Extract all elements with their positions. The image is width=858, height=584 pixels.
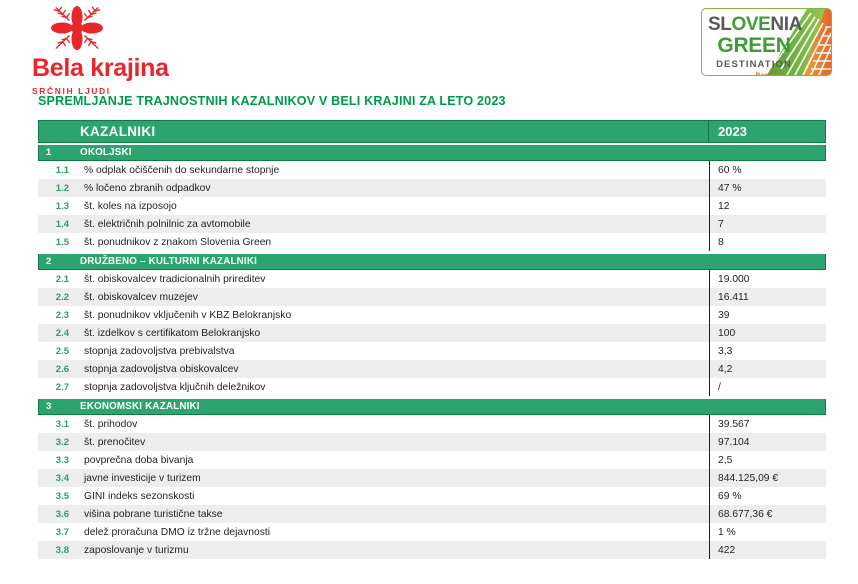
row-value: 12 <box>709 197 826 215</box>
brand-logo-bela-krajina: Bela krajina SRČNIH LJUDI <box>32 4 252 96</box>
row-value: 60 % <box>709 161 826 179</box>
row-value: 39.567 <box>709 415 826 433</box>
table-row: 2.7stopnja zadovoljstva ključnih deležni… <box>38 378 826 396</box>
row-label: % ločeno zbranih odpadkov <box>74 179 709 197</box>
row-label: višina pobrane turistične takse <box>74 505 709 523</box>
row-value: 47 % <box>709 179 826 197</box>
table-row: 1.2% ločeno zbranih odpadkov47 % <box>38 179 826 197</box>
row-number: 3.8 <box>38 541 74 559</box>
row-number: 2.3 <box>38 306 74 324</box>
row-value: 100 <box>709 324 826 342</box>
page-header: Bela krajina SRČNIH LJUDI <box>0 0 858 92</box>
brand-name: Bela krajina <box>32 56 252 81</box>
section-label: DRUŽBENO – KULTURNI KAZALNIKI <box>75 254 708 269</box>
table-row: 3.2št. prenočitev97.104 <box>38 433 826 451</box>
table-row: 1.3št. koles na izposojo12 <box>38 197 826 215</box>
row-label: št. električnih polnilnic za avtomobile <box>74 215 709 233</box>
row-label: št. ponudnikov vključenih v KBZ Belokran… <box>74 306 709 324</box>
row-number: 2.2 <box>38 288 74 306</box>
table-row: 3.1št. prihodov39.567 <box>38 415 826 433</box>
row-number: 3.3 <box>38 451 74 469</box>
slovenia-green-destination-logo: SLOVENIA GREEN DESTINATION Bronze <box>701 8 832 76</box>
row-label: št. obiskovalcev tradicionalnih priredit… <box>74 270 709 288</box>
row-number: 2.6 <box>38 360 74 378</box>
section-number: 3 <box>39 399 75 414</box>
table-row: 2.3št. ponudnikov vključenih v KBZ Belok… <box>38 306 826 324</box>
sg-ove: OVE <box>731 14 770 35</box>
sg-nia: NIA <box>770 14 802 35</box>
table-row: 2.6stopnja zadovoljstva obiskovalcev4,2 <box>38 360 826 378</box>
row-label: št. izdelkov s certifikatom Belokranjsko <box>74 324 709 342</box>
row-value: 69 % <box>709 487 826 505</box>
row-label: št. prenočitev <box>74 433 709 451</box>
sg-line-green: GREEN <box>708 35 800 57</box>
section-header-row: 3EKONOMSKI KAZALNIKI <box>38 399 826 415</box>
table-row: 3.4javne investicije v turizem844.125,09… <box>38 469 826 487</box>
slovenia-green-wordmark: SLOVENIA GREEN DESTINATION Bronze <box>708 15 800 76</box>
sg-level-badge: Bronze <box>736 72 800 76</box>
row-number: 1.2 <box>38 179 74 197</box>
table-row: 3.5GINI indeks sezonskosti69 % <box>38 487 826 505</box>
row-value: 68.677,36 € <box>709 505 826 523</box>
row-label: GINI indeks sezonskosti <box>74 487 709 505</box>
row-label: delež proračuna DMO iz tržne dejavnosti <box>74 523 709 541</box>
table-row: 1.1% odplak očiščenih do sekundarne stop… <box>38 161 826 179</box>
table-row: 2.5stopnja zadovoljstva prebivalstva3,3 <box>38 342 826 360</box>
row-value: / <box>709 378 826 396</box>
table-row: 2.4št. izdelkov s certifikatom Belokranj… <box>38 324 826 342</box>
row-number: 1.5 <box>38 233 74 251</box>
table-row: 3.6višina pobrane turistične takse68.677… <box>38 505 826 523</box>
header-value-cell: 2023 <box>708 121 825 142</box>
table-row: 2.2št. obiskovalcev muzejev16.411 <box>38 288 826 306</box>
row-value: 422 <box>709 541 826 559</box>
row-number: 3.5 <box>38 487 74 505</box>
header-label-cell: KAZALNIKI <box>75 121 708 142</box>
indicators-table: KAZALNIKI 2023 1OKOLJSKI1.1% odplak očiš… <box>38 120 826 559</box>
row-value: 7 <box>709 215 826 233</box>
row-label: stopnja zadovoljstva prebivalstva <box>74 342 709 360</box>
row-number: 3.6 <box>38 505 74 523</box>
row-label: zaposlovanje v turizmu <box>74 541 709 559</box>
row-label: povprečna doba bivanja <box>74 451 709 469</box>
row-number: 2.4 <box>38 324 74 342</box>
table-row: 1.5št. ponudnikov z znakom Slovenia Gree… <box>38 233 826 251</box>
section-label: EKONOMSKI KAZALNIKI <box>75 399 708 414</box>
row-value: 8 <box>709 233 826 251</box>
table-header-row: KAZALNIKI 2023 <box>38 120 826 143</box>
row-label: % odplak očiščenih do sekundarne stopnje <box>74 161 709 179</box>
row-value: 16.411 <box>709 288 826 306</box>
table-row: 3.8zaposlovanje v turizmu422 <box>38 541 826 559</box>
sg-line-destination: DESTINATION <box>708 59 800 70</box>
sg-line-slovenia: SLOVENIA <box>708 15 800 35</box>
floral-motif-icon <box>44 4 110 52</box>
section-number: 1 <box>39 145 75 160</box>
section-value-cell <box>708 145 825 160</box>
row-number: 2.1 <box>38 270 74 288</box>
row-label: št. koles na izposojo <box>74 197 709 215</box>
row-value: 1 % <box>709 523 826 541</box>
section-header-row: 1OKOLJSKI <box>38 145 826 161</box>
section-value-cell <box>708 399 825 414</box>
row-label: št. prihodov <box>74 415 709 433</box>
section-label: OKOLJSKI <box>75 145 708 160</box>
section-header-row: 2DRUŽBENO – KULTURNI KAZALNIKI <box>38 254 826 270</box>
row-value: 97.104 <box>709 433 826 451</box>
row-number: 2.5 <box>38 342 74 360</box>
row-spacer <box>38 143 826 144</box>
table-row: 2.1št. obiskovalcev tradicionalnih prire… <box>38 270 826 288</box>
row-number: 2.7 <box>38 378 74 396</box>
row-spacer <box>38 396 826 398</box>
row-value: 4,2 <box>709 360 826 378</box>
row-number: 3.2 <box>38 433 74 451</box>
row-number: 3.7 <box>38 523 74 541</box>
sg-sl: SL <box>708 14 731 35</box>
row-label: stopnja zadovoljstva obiskovalcev <box>74 360 709 378</box>
section-number: 2 <box>39 254 75 269</box>
row-number: 1.1 <box>38 161 74 179</box>
section-value-cell <box>708 254 825 269</box>
row-number: 3.4 <box>38 469 74 487</box>
row-number: 1.4 <box>38 215 74 233</box>
row-spacer <box>38 251 826 253</box>
row-number: 1.3 <box>38 197 74 215</box>
row-number: 3.1 <box>38 415 74 433</box>
page-root: Bela krajina SRČNIH LJUDI <box>0 0 858 584</box>
row-value: 39 <box>709 306 826 324</box>
row-value: 2,5 <box>709 451 826 469</box>
table-body: 1OKOLJSKI1.1% odplak očiščenih do sekund… <box>38 143 826 559</box>
header-num-cell <box>39 121 75 142</box>
table-row: 3.3povprečna doba bivanja2,5 <box>38 451 826 469</box>
table-row: 1.4št. električnih polnilnic za avtomobi… <box>38 215 826 233</box>
row-value: 3,3 <box>709 342 826 360</box>
row-label: št. obiskovalcev muzejev <box>74 288 709 306</box>
row-label: javne investicije v turizem <box>74 469 709 487</box>
table-row: 3.7delež proračuna DMO iz tržne dejavnos… <box>38 523 826 541</box>
row-value: 844.125,09 € <box>709 469 826 487</box>
row-label: stopnja zadovoljstva ključnih deležnikov <box>74 378 709 396</box>
page-title: SPREMLJANJE TRAJNOSTNIH KAZALNIKOV V BEL… <box>38 94 506 108</box>
row-value: 19.000 <box>709 270 826 288</box>
row-label: št. ponudnikov z znakom Slovenia Green <box>74 233 709 251</box>
